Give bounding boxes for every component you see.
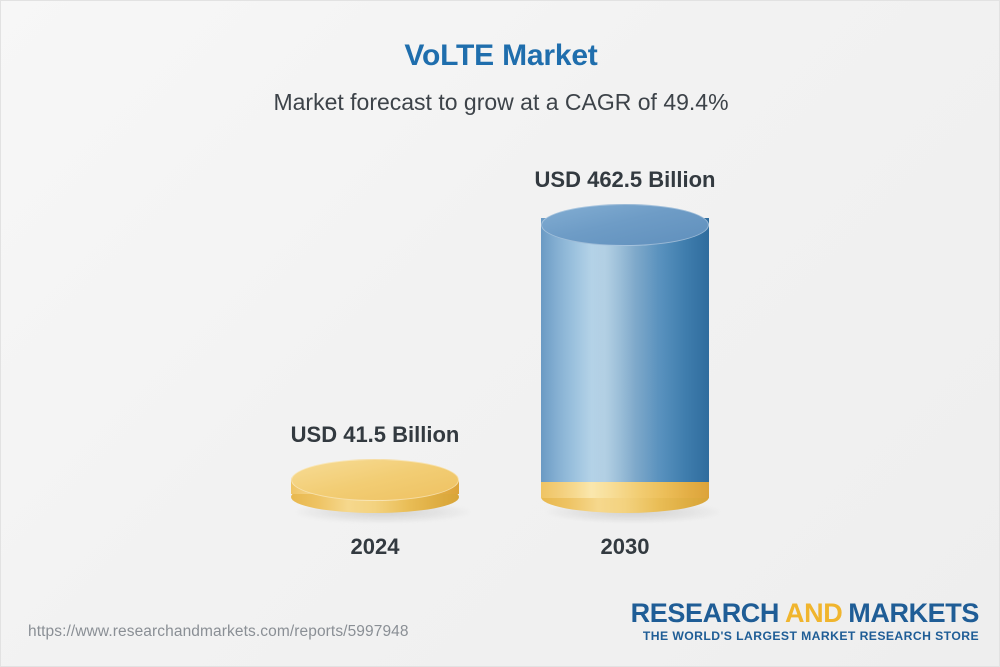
report-url[interactable]: https://www.researchandmarkets.com/repor…	[28, 623, 409, 641]
logo-word-markets: MARKETS	[848, 598, 979, 628]
researchandmarkets-logo[interactable]: RESEARCHANDMARKETS THE WORLD'S LARGEST M…	[631, 599, 979, 643]
chart-canvas: VoLTE Market Market forecast to grow at …	[0, 0, 1000, 667]
value-label-2024: USD 41.5 Billion	[225, 422, 525, 448]
bar-2030-body	[541, 218, 709, 482]
bar-sheen	[541, 218, 709, 482]
logo-word-and: AND	[785, 598, 842, 628]
category-label-2030: 2030	[475, 534, 775, 560]
value-label-2030: USD 462.5 Billion	[475, 167, 775, 193]
bar-2024-top-cap	[291, 459, 459, 501]
bar-2030[interactable]	[541, 204, 709, 514]
logo-wordmark: RESEARCHANDMARKETS	[631, 599, 979, 627]
bar-2030-base-segment	[541, 482, 709, 498]
logo-word-research: RESEARCH	[631, 598, 779, 628]
bar-2030-top-cap	[541, 204, 709, 246]
bar-2024[interactable]	[291, 459, 459, 514]
plot-area: USD 462.5 Billion USD 41.5 Billion	[1, 1, 1000, 667]
logo-tagline: THE WORLD'S LARGEST MARKET RESEARCH STOR…	[631, 629, 979, 643]
